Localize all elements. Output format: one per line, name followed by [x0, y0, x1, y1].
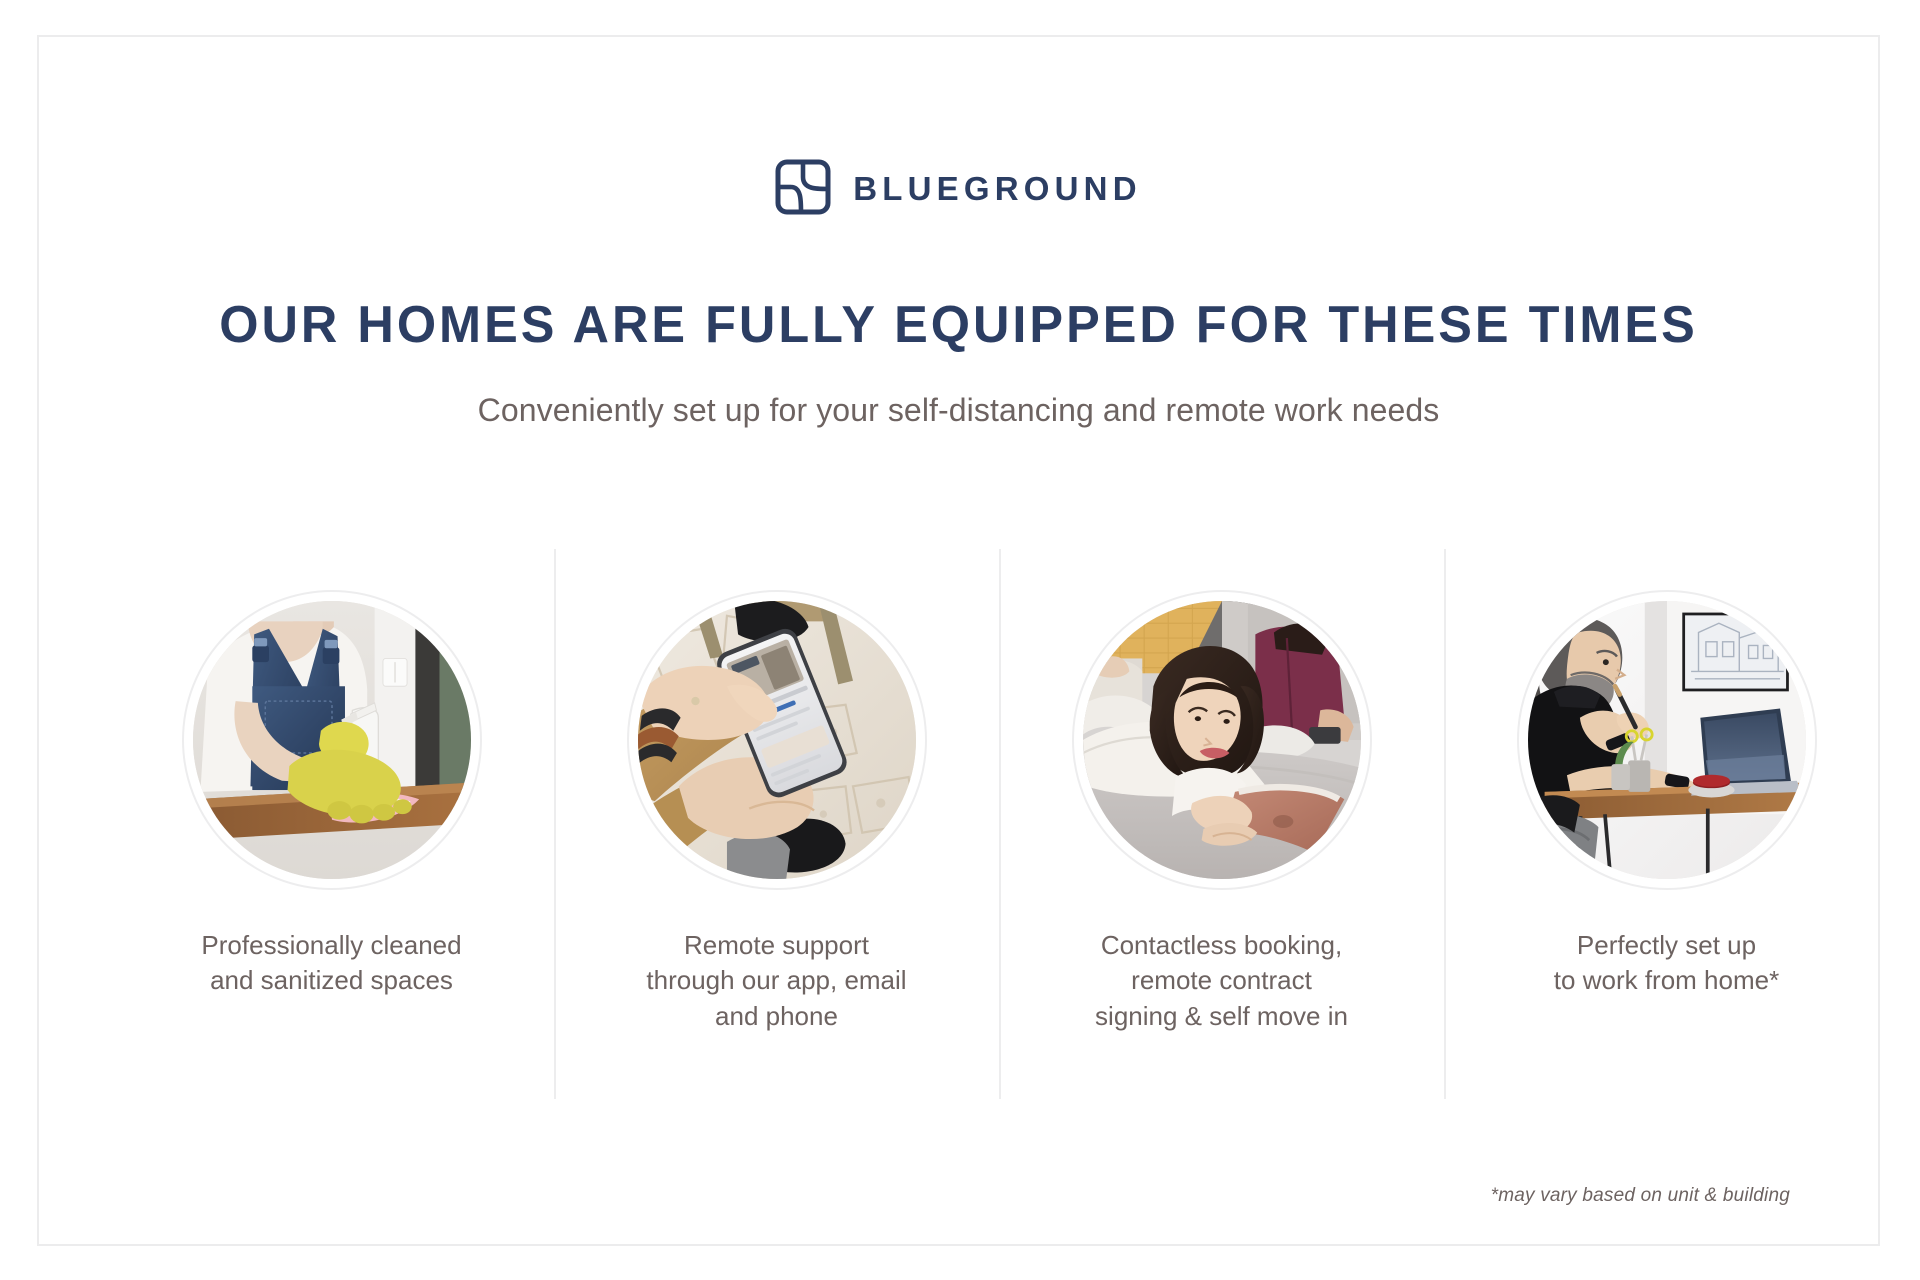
- feature-image-ring: [1072, 590, 1372, 890]
- blueground-square-mark-icon: [775, 159, 831, 215]
- hands-holding-phone-app-photo: [638, 601, 916, 879]
- brand-wordmark: BLUEGROUND: [853, 170, 1142, 205]
- feature-caption: Remote support through our app, email an…: [646, 928, 906, 1034]
- feature-caption: Contactless booking, remote contract sig…: [1095, 928, 1348, 1034]
- brand-logo-lockup[interactable]: BLUEGROUND: [39, 159, 1878, 215]
- feature-contactless-booking: Contactless booking, remote contract sig…: [999, 545, 1444, 1105]
- feature-columns: Professionally cleaned and sanitized spa…: [109, 545, 1889, 1105]
- poster-canvas: BLUEGROUND OUR HOMES ARE FULLY EQUIPPED …: [0, 0, 1920, 1280]
- man-at-desk-with-laptop-photo: [1528, 601, 1806, 879]
- poster-frame: BLUEGROUND OUR HOMES ARE FULLY EQUIPPED …: [37, 35, 1880, 1246]
- woman-on-bed-with-tablet-photo: [1083, 601, 1361, 879]
- feature-cleaning: Professionally cleaned and sanitized spa…: [109, 545, 554, 1105]
- feature-image-ring: [182, 590, 482, 890]
- footnote-disclaimer: *may vary based on unit & building: [1491, 1185, 1790, 1207]
- page-title: OUR HOMES ARE FULLY EQUIPPED FOR THESE T…: [67, 295, 1851, 355]
- feature-work-from-home: Perfectly set up to work from home*: [1444, 545, 1889, 1105]
- feature-caption: Perfectly set up to work from home*: [1554, 928, 1779, 999]
- page-subtitle: Conveniently set up for your self-distan…: [39, 392, 1878, 429]
- feature-caption: Professionally cleaned and sanitized spa…: [201, 928, 461, 999]
- cleaner-wiping-counter-photo: [193, 601, 471, 879]
- feature-remote-support: Remote support through our app, email an…: [554, 545, 999, 1105]
- feature-image-ring: [627, 590, 927, 890]
- feature-image-ring: [1517, 590, 1817, 890]
